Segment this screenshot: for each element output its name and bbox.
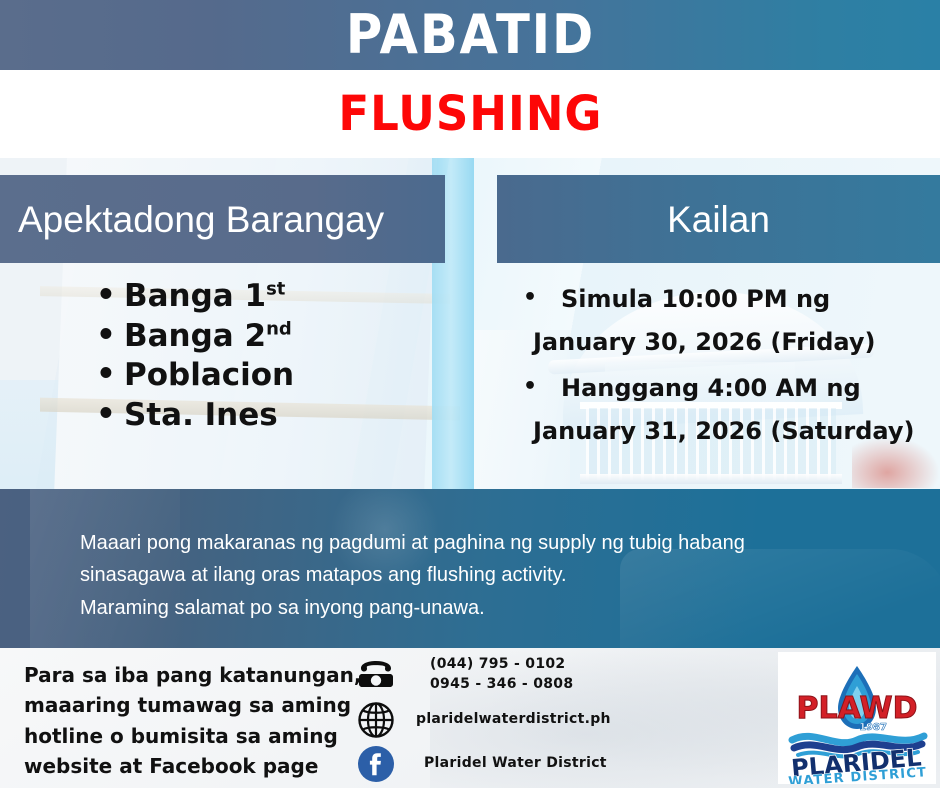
facebook-page-name[interactable]: Plaridel Water District [402, 753, 607, 773]
notice-line-2: sinasagawa at ilang oras matapos ang flu… [80, 559, 745, 591]
schedule-start-label: Simula 10:00 PM ng [561, 285, 830, 313]
barangay-number: 1 [245, 278, 267, 314]
notice-text: Maaari pong makaranas ng pagdumi at pagh… [80, 527, 745, 624]
phone-numbers: (044) 795 - 0102 0945 - 346 - 0808 [402, 654, 573, 695]
hotline-line-3: hotline o bumisita sa aming [24, 721, 361, 751]
phone-number-2: 0945 - 346 - 0808 [430, 674, 573, 694]
plawd-logo: PLAWD 1987 PLARIDEL WATER DISTRICT [778, 652, 936, 784]
hotline-line-2: maaaring tumawag sa aming [24, 690, 361, 720]
schedule-end-label: Hanggang 4:00 AM ng [561, 374, 861, 402]
contact-row-facebook: Plaridel Water District [350, 745, 750, 783]
affected-barangay-list: Banga 1st Banga 2nd Poblacion Sta. Ines [96, 277, 294, 436]
poster-subtitle-band: FLUSHING [0, 70, 940, 158]
hotline-line-4: website at Facebook page [24, 751, 361, 781]
website-url[interactable]: plaridelwaterdistrict.ph [416, 709, 611, 729]
barangay-ordinal: st [266, 279, 285, 300]
barangay-name: Sta. Ines [124, 397, 278, 433]
barangay-name: Poblacion [124, 357, 294, 393]
notice-line-3: Maraming salamat po sa inyong pang-unawa… [80, 592, 745, 624]
flushing-advisory-poster: PABATID FLUSHING Apektadong Barangay Kai… [0, 0, 940, 788]
hotline-message: Para sa iba pang katanungan, maaaring tu… [24, 660, 361, 782]
phone-number-1: (044) 795 - 0102 [430, 654, 573, 674]
globe-icon [350, 701, 402, 739]
telephone-icon [350, 658, 402, 690]
barangay-ordinal: nd [266, 318, 292, 339]
barangay-number: 2 [245, 318, 267, 354]
list-item: Poblacion [96, 356, 294, 396]
schedule-list: Simula 10:00 PM ng January 30, 2026 (Fri… [517, 278, 937, 457]
page-subtitle: FLUSHING [338, 90, 602, 138]
contact-row-phone: (044) 795 - 0102 0945 - 346 - 0808 [350, 654, 750, 695]
schedule-end-date: January 31, 2026 (Saturday) [533, 410, 937, 453]
plawd-logo-graphic: PLAWD 1987 PLARIDEL WATER DISTRICT [778, 652, 936, 784]
notice-band: Maaari pong makaranas ng pagdumi at pagh… [0, 489, 940, 648]
list-item: Hanggang 4:00 AM ng January 31, 2026 (Sa… [517, 367, 937, 452]
column-header-schedule: Kailan [497, 175, 940, 263]
logo-acronym: PLAWD [797, 691, 918, 726]
facebook-page-label[interactable]: Plaridel Water District [424, 753, 607, 773]
barangay-name: Banga [124, 278, 245, 314]
list-item: Banga 2nd [96, 317, 294, 357]
logo-year: 1987 [859, 722, 887, 733]
facebook-icon[interactable] [350, 745, 402, 783]
poster-title-band: PABATID [0, 0, 940, 70]
column-header-barangay: Apektadong Barangay [0, 175, 445, 263]
list-item: Banga 1st [96, 277, 294, 317]
notice-line-1: Maaari pong makaranas ng pagdumi at pagh… [80, 527, 745, 559]
list-item: Simula 10:00 PM ng January 30, 2026 (Fri… [517, 278, 937, 363]
website-text[interactable]: plaridelwaterdistrict.ph [402, 709, 611, 729]
contact-row-website: plaridelwaterdistrict.ph [350, 701, 750, 739]
schedule-start-date: January 30, 2026 (Friday) [533, 321, 937, 364]
hotline-line-1: Para sa iba pang katanungan, [24, 660, 361, 690]
list-item: Sta. Ines [96, 396, 294, 436]
contact-list: (044) 795 - 0102 0945 - 346 - 0808 [350, 654, 750, 788]
barangay-name: Banga [124, 318, 245, 354]
column-header-schedule-label: Kailan [667, 201, 770, 238]
page-title: PABATID [345, 8, 594, 62]
column-header-barangay-label: Apektadong Barangay [18, 201, 384, 238]
